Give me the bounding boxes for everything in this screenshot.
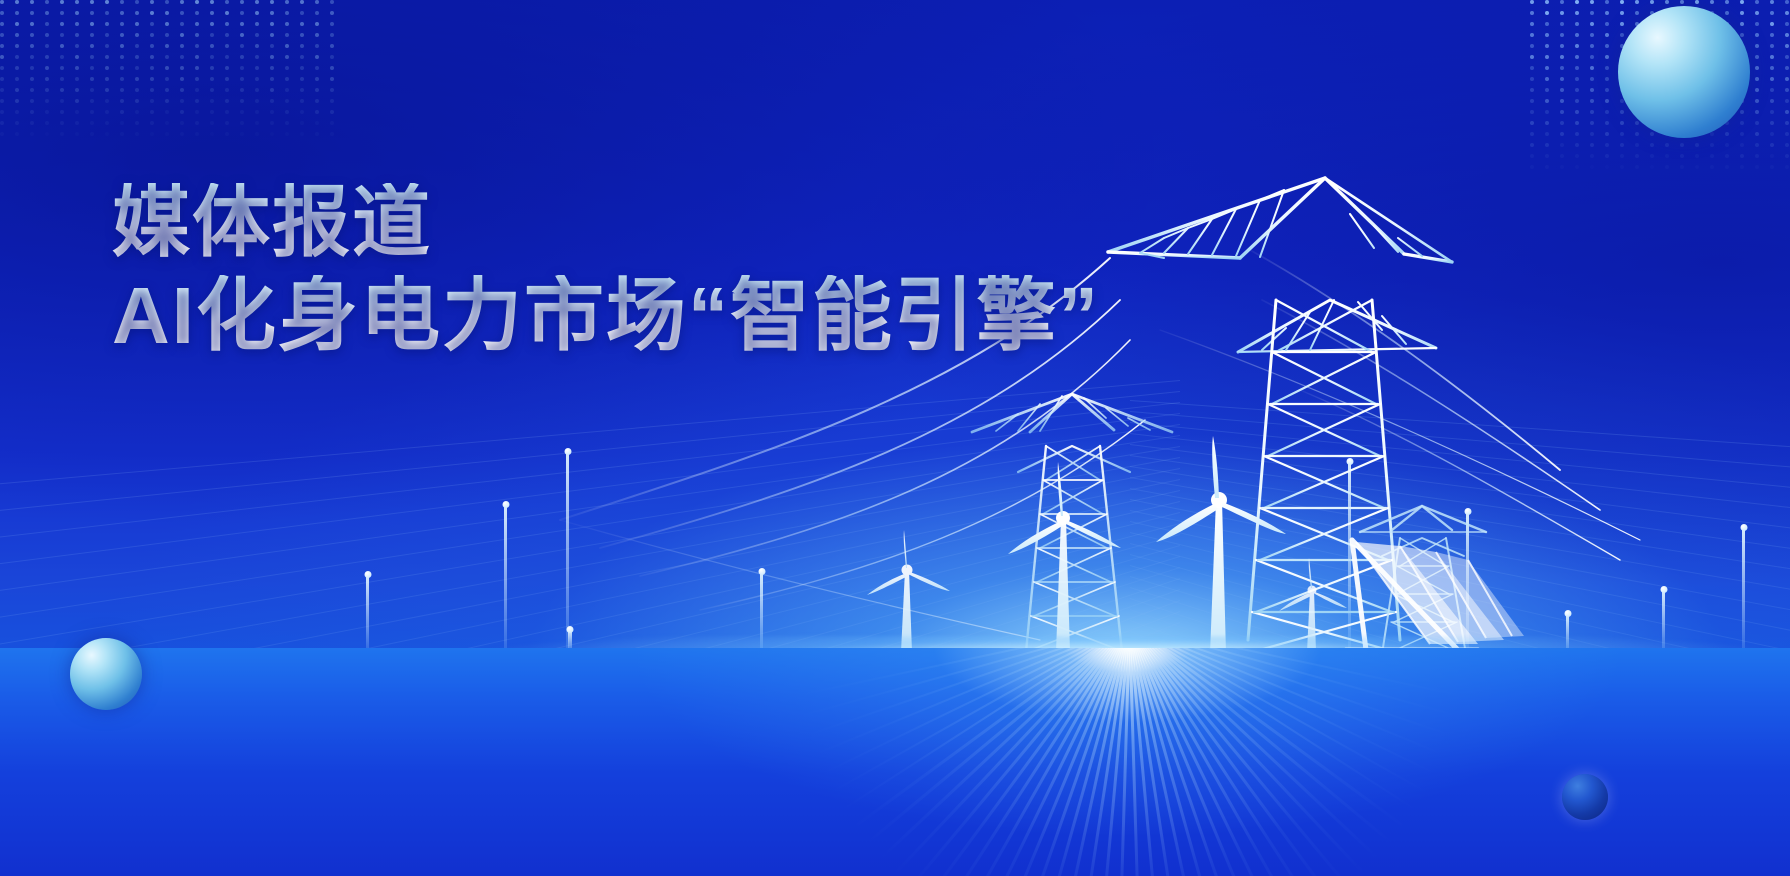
ground-plane [0,648,1790,876]
headline-line-2: AI化身电力市场“智能引擎” [112,275,1100,357]
wind-turbine-1 [1156,436,1286,654]
light-rays [0,648,1790,876]
solar-panel-array [1346,540,1524,652]
sphere-left [70,638,142,710]
headline-line-1: 媒体报道 [112,183,1100,263]
headline-block: 媒体报道 AI化身电力市场“智能引擎” [112,183,1100,356]
sphere-top-right [1618,6,1750,138]
banner-image: 媒体报道 AI化身电力市场“智能引擎” [0,0,1790,876]
wind-turbine-3 [867,530,950,652]
sphere-bottom-right [1562,774,1608,820]
